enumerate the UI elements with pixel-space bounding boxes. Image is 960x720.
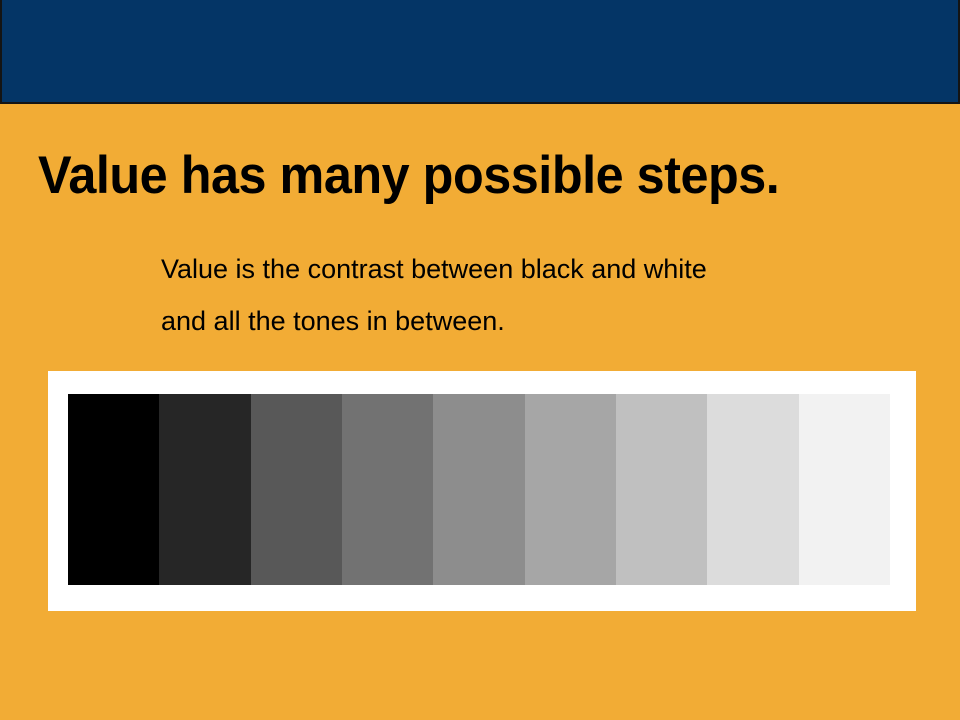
value-swatch-1 — [68, 394, 159, 585]
value-swatch-8 — [707, 394, 798, 585]
body-text-line-1: Value is the contrast between black and … — [161, 243, 901, 295]
body-text-line-2: and all the tones in between. — [161, 295, 901, 347]
page-title: Value has many possible steps. — [38, 146, 893, 206]
value-swatch-2 — [159, 394, 250, 585]
body-text-block: Value is the contrast between black and … — [161, 243, 901, 347]
value-swatch-6 — [525, 394, 616, 585]
value-scale-strip — [68, 394, 890, 585]
value-swatch-9 — [799, 394, 890, 585]
value-swatch-7 — [616, 394, 707, 585]
value-swatch-4 — [342, 394, 433, 585]
value-swatch-3 — [251, 394, 342, 585]
header-band — [0, 0, 960, 104]
slide-canvas: Value has many possible steps. Value is … — [0, 0, 960, 720]
value-swatch-5 — [433, 394, 524, 585]
value-scale-figure — [48, 371, 916, 611]
